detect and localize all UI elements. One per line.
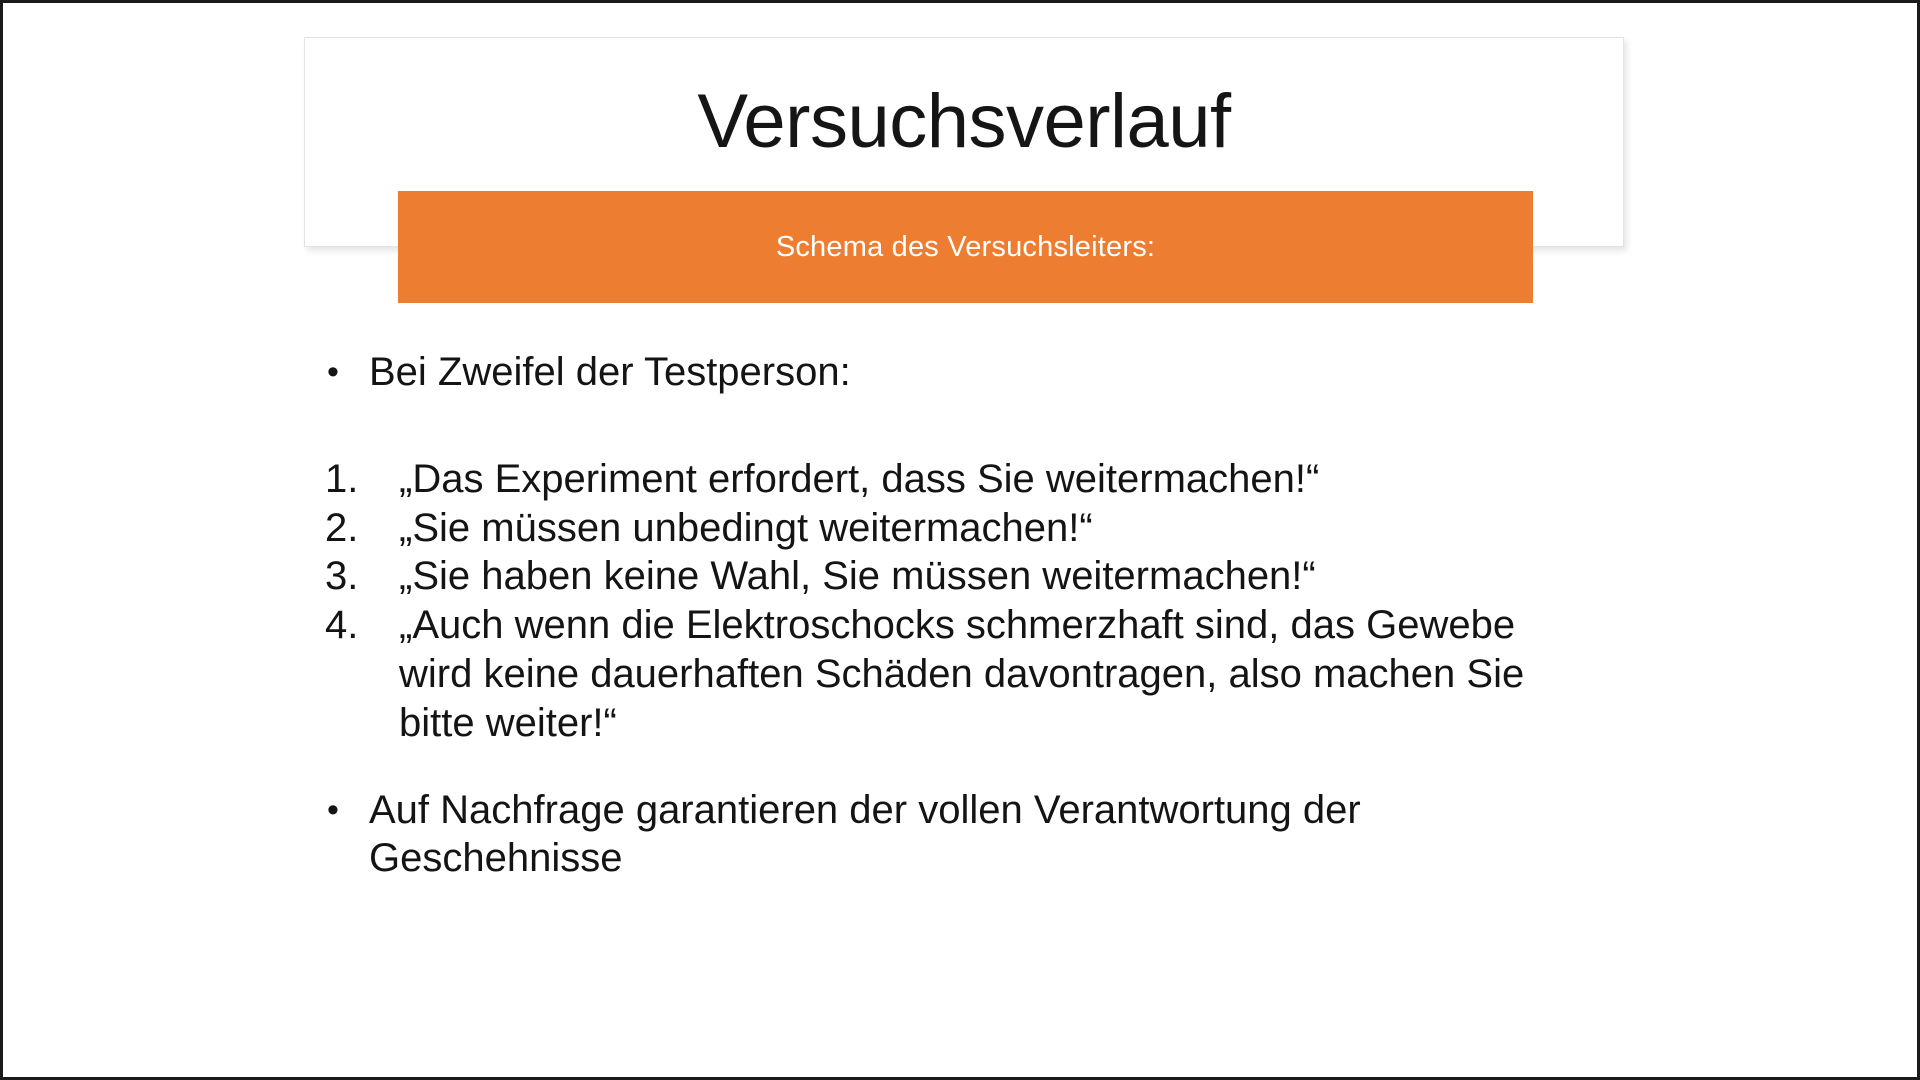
list-item-text: „Sie haben keine Wahl, Sie müssen weiter… (399, 552, 1534, 601)
bullet-point-icon: • (323, 348, 369, 396)
list-item: 4. „Auch wenn die Elektroschocks schmerz… (323, 601, 1623, 747)
list-item-number: 3. (323, 552, 399, 601)
bullet-point-icon: • (323, 786, 369, 834)
list-item-text: „Auch wenn die Elektroschocks schmerzhaf… (399, 601, 1534, 747)
list-item-number: 2. (323, 504, 399, 553)
closing-bullet-item: • Auf Nachfrage garantieren der vollen V… (323, 786, 1623, 884)
list-item-text: „Sie müssen unbedingt weitermachen!“ (399, 504, 1534, 553)
closing-bullet-text: Auf Nachfrage garantieren der vollen Ver… (369, 786, 1623, 884)
slide-body: • Bei Zweifel der Testperson: 1. „Das Ex… (323, 348, 1623, 883)
presentation-slide: Versuchsverlauf Schema des Versuchsleite… (0, 0, 1920, 1080)
list-item-text: „Das Experiment erfordert, dass Sie weit… (399, 455, 1534, 504)
numbered-list: 1. „Das Experiment erfordert, dass Sie w… (323, 455, 1623, 748)
subtitle-banner-label: Schema des Versuchsleiters: (776, 231, 1155, 264)
list-item: 2. „Sie müssen unbedingt weitermachen!“ (323, 504, 1623, 553)
list-item-number: 4. (323, 601, 399, 650)
list-item: 1. „Das Experiment erfordert, dass Sie w… (323, 455, 1623, 504)
subtitle-banner[interactable]: Schema des Versuchsleiters: (398, 191, 1533, 303)
spacer (323, 397, 1623, 455)
list-item-number: 1. (323, 455, 399, 504)
list-item: 3. „Sie haben keine Wahl, Sie müssen wei… (323, 552, 1623, 601)
intro-bullet-text: Bei Zweifel der Testperson: (369, 348, 1623, 397)
spacer (323, 748, 1623, 786)
intro-bullet-item: • Bei Zweifel der Testperson: (323, 348, 1623, 397)
page-title: Versuchsverlauf (305, 38, 1623, 160)
